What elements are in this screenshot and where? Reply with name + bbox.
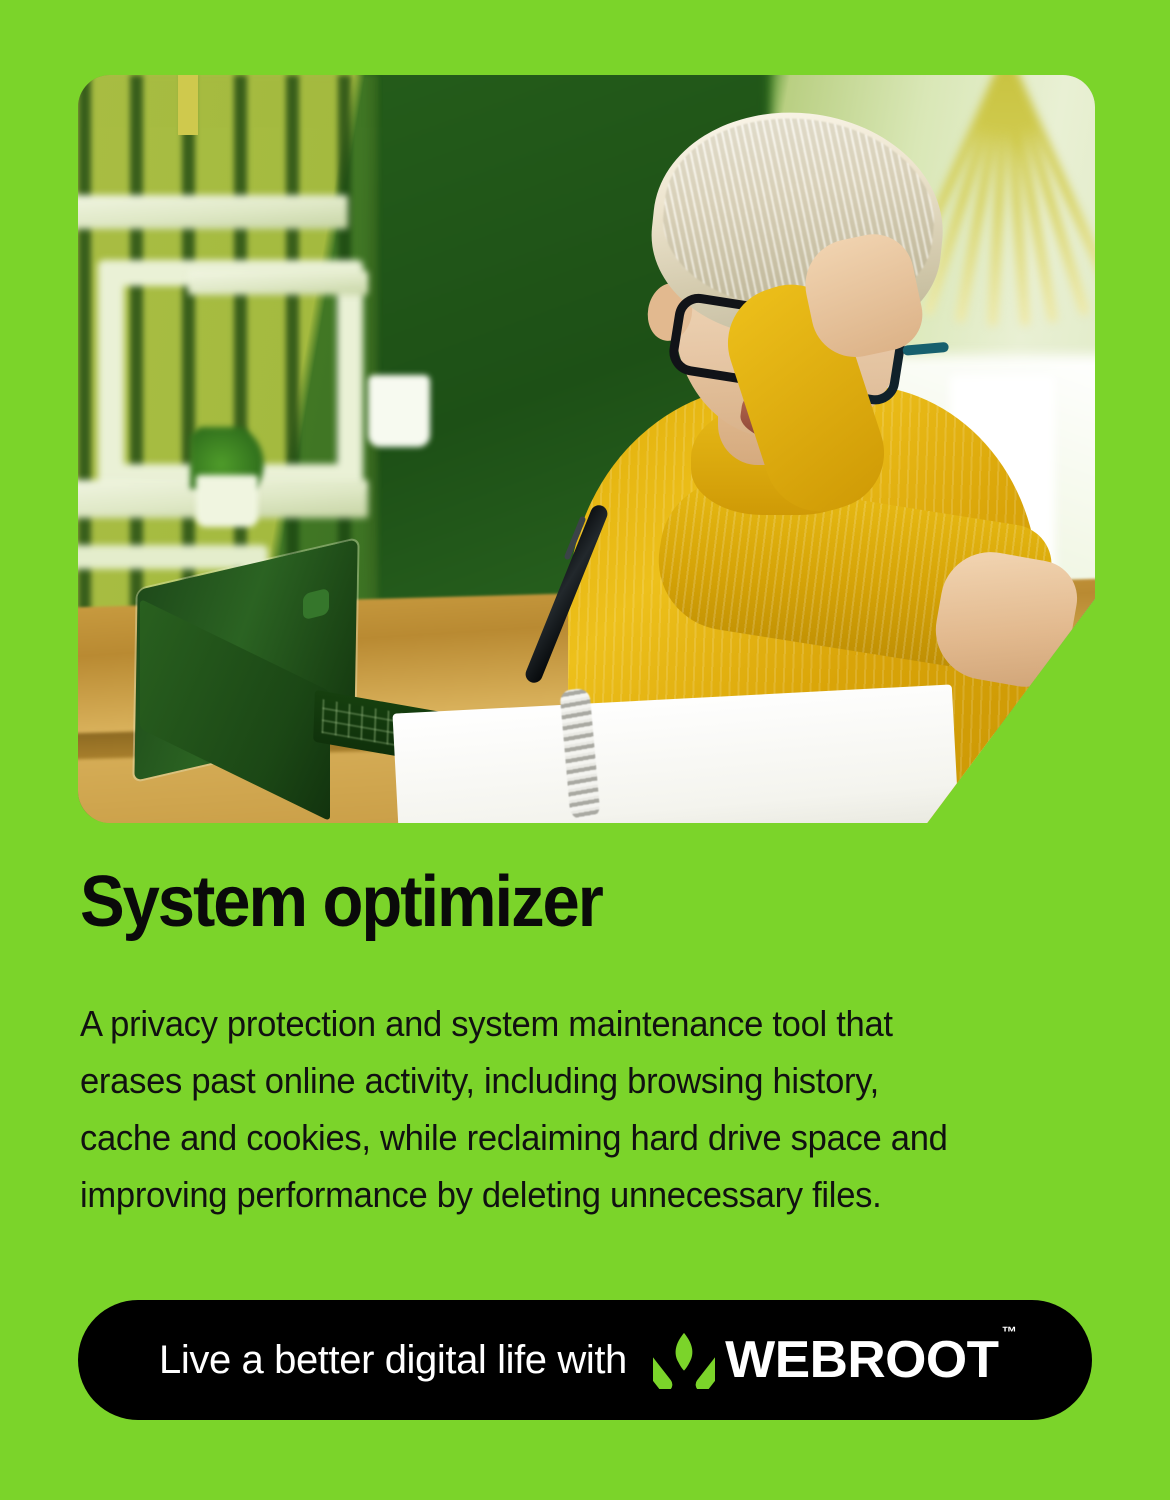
mug-icon [368,375,430,447]
body-line: erases past online activity, including b… [80,1052,1069,1109]
pendant-lamp-rod [178,75,198,135]
page-title: System optimizer [80,866,602,938]
cta-tagline: Live a better digital life with [159,1338,627,1383]
hero-photo [78,75,1095,823]
webroot-leaf-icon [653,1331,715,1389]
cta-banner[interactable]: Live a better digital life with WEBROOT™ [78,1300,1092,1420]
trademark-symbol: ™ [1002,1324,1017,1341]
promo-card: System optimizer A privacy protection an… [0,0,1170,1500]
webroot-wordmark-text: WEBROOT [725,1331,998,1389]
plant-pot-icon [196,475,258,527]
body-line: cache and cookies, while reclaiming hard… [80,1109,1069,1166]
tablet-device [118,573,418,783]
glasses-temple [902,342,949,356]
webroot-logo-lockup: WEBROOT™ [653,1330,1011,1390]
hero-image [78,75,1095,823]
webroot-wordmark: WEBROOT™ [725,1330,1014,1390]
body-line: A privacy protection and system maintena… [80,995,1069,1052]
shelf-icon [188,271,368,295]
body-line: improving performance by deleting unnece… [80,1166,1069,1223]
shelf-icon [78,195,348,229]
body-description: A privacy protection and system maintena… [80,995,1069,1223]
